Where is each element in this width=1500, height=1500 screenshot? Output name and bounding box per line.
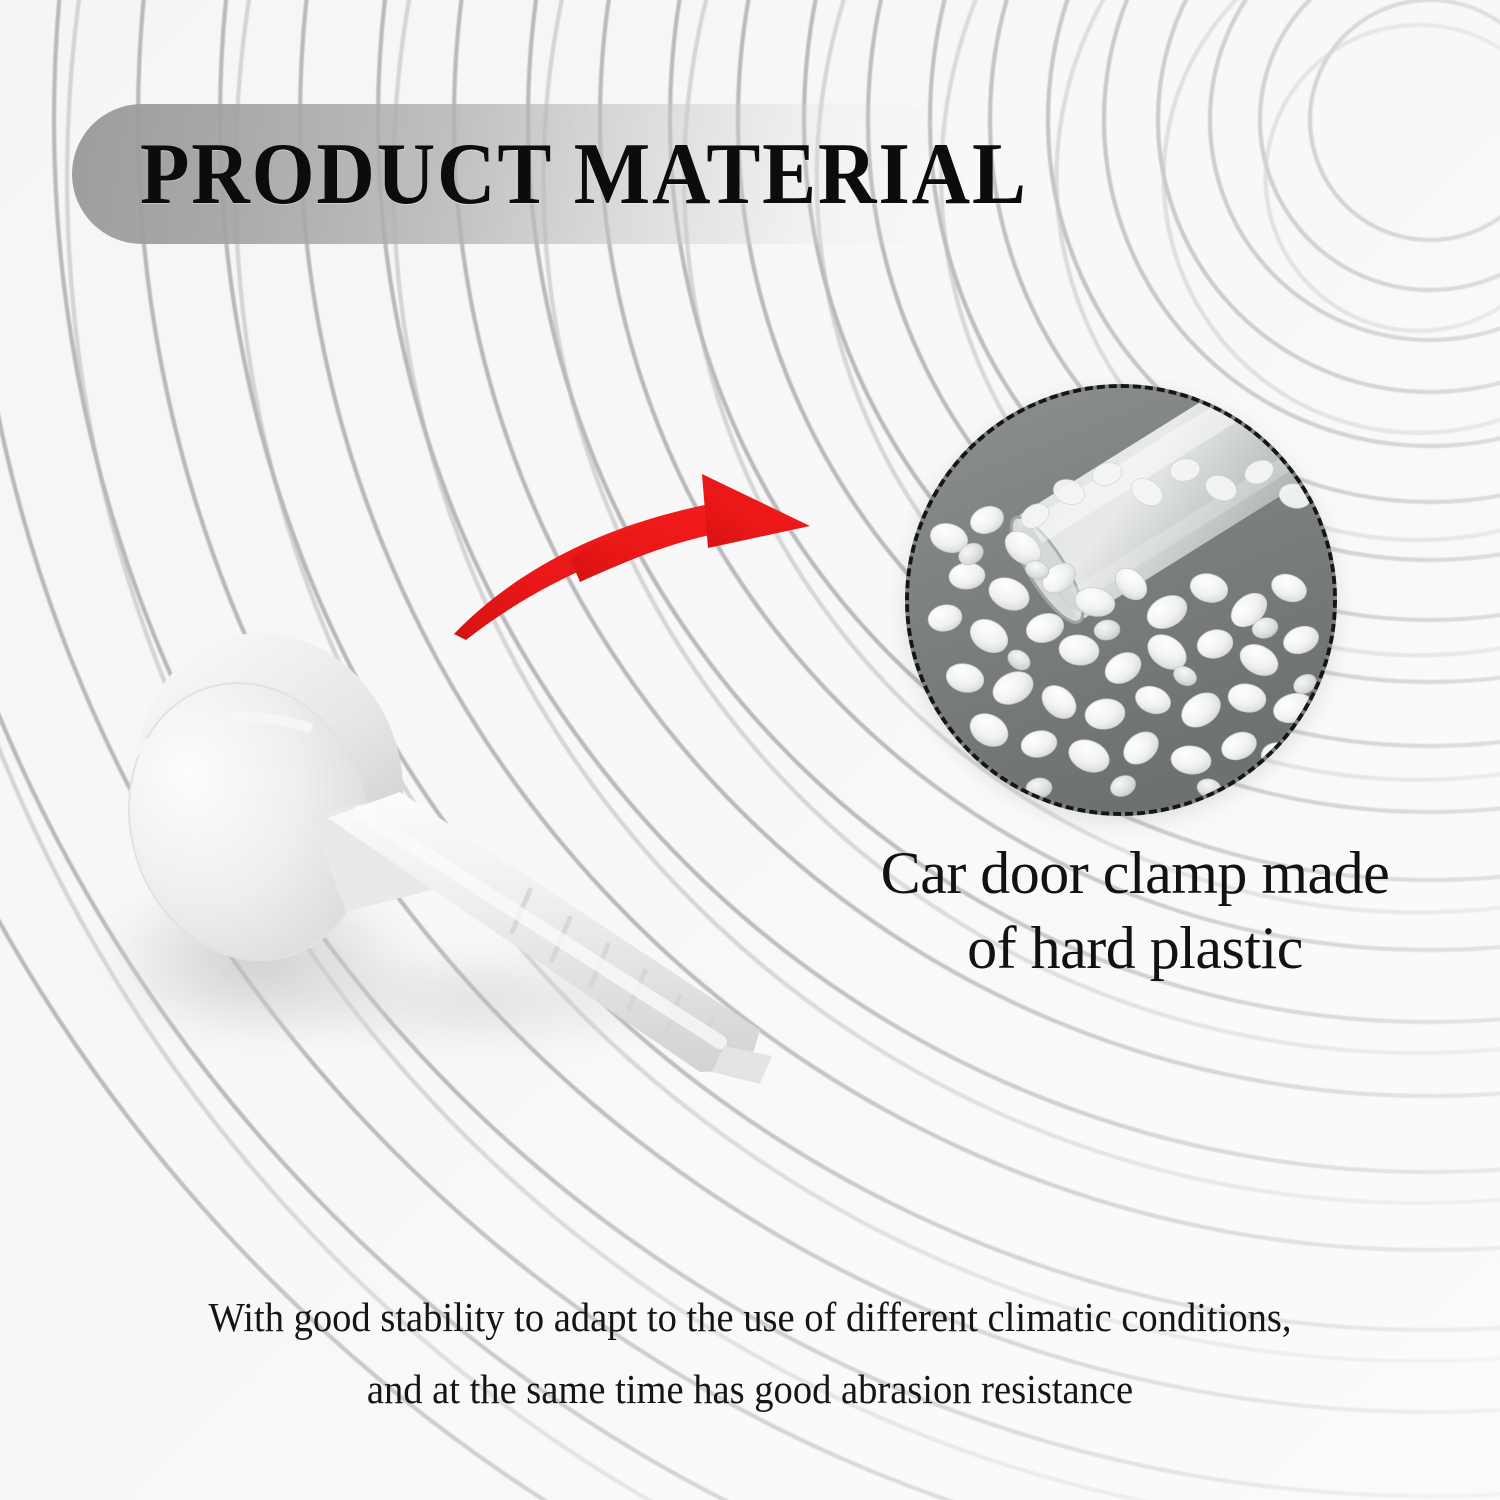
page-title: PRODUCT MATERIAL: [140, 112, 1198, 237]
caption-line-1: Car door clamp made: [790, 836, 1480, 911]
footer-line-1: With good stability to adapt to the use …: [167, 1282, 1333, 1354]
material-inset-circle: [905, 384, 1337, 816]
plastic-pellets-photo: [909, 388, 1333, 812]
curved-red-arrow: [420, 430, 870, 670]
material-caption: Car door clamp made of hard plastic: [790, 836, 1480, 986]
footer-description: With good stability to adapt to the use …: [167, 1282, 1333, 1426]
footer-line-2: and at the same time has good abrasion r…: [167, 1354, 1333, 1426]
caption-line-2: of hard plastic: [790, 911, 1480, 986]
product-material-infographic: PRODUCT MATERIAL: [0, 0, 1500, 1500]
